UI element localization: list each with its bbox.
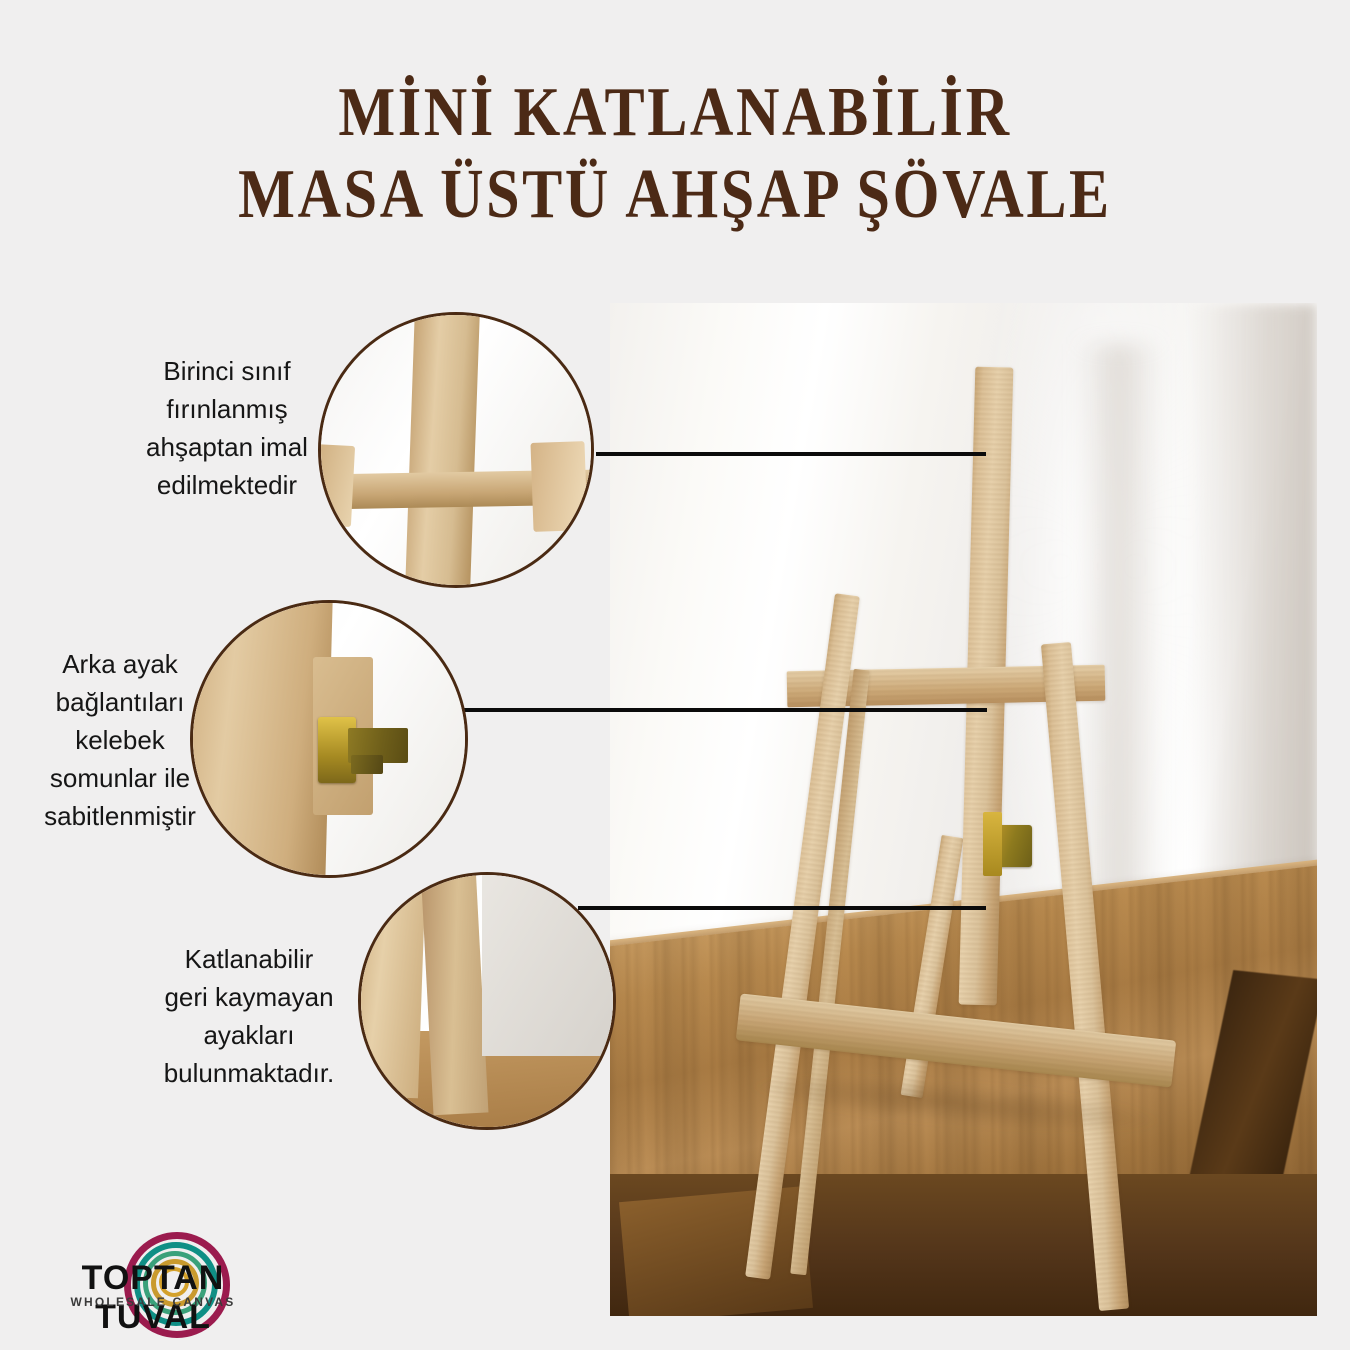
brand-logo[interactable]: TOPTAN TUVAL WHOLESALE CANVAS (28, 1232, 278, 1328)
callout3-left-leg (358, 872, 426, 1098)
callout2-wing-nut-tail (351, 755, 384, 774)
feature-text-folding-feet: Katlanabilir geri kaymayan ayakları bulu… (140, 940, 358, 1092)
page-title: MİNİ KATLANABİLİR MASA ÜSTÜ AHŞAP ŞÖVALE (0, 72, 1350, 236)
feature-text-wood-quality: Birinci sınıf fırınlanmış ahşaptan imal … (118, 352, 336, 504)
feature-1-line-4: edilmektedir (118, 466, 336, 504)
leader-line-feature-1 (596, 452, 986, 456)
brass-wing-nut-plate (983, 812, 1001, 877)
title-line-2: MASA ÜSTÜ AHŞAP ŞÖVALE (95, 154, 1256, 236)
feature-2-line-1: Arka ayak (20, 645, 220, 683)
feature-1-line-3: ahşaptan imal (118, 428, 336, 466)
feature-3-line-4: bulunmaktadır. (140, 1054, 358, 1092)
feature-1-line-2: fırınlanmış (118, 390, 336, 428)
feature-1-line-1: Birinci sınıf (118, 352, 336, 390)
feature-3-line-2: geri kaymayan (140, 978, 358, 1016)
feature-2-line-2: bağlantıları (20, 683, 220, 721)
feature-2-line-3: kelebek (20, 721, 220, 759)
feature-3-line-1: Katlanabilir (140, 940, 358, 978)
callout-circle-wing-nuts (190, 600, 468, 878)
feature-3-line-3: ayakları (140, 1016, 358, 1054)
callout-circle-folding-feet (358, 872, 616, 1130)
feature-text-wing-nuts: Arka ayak bağlantıları kelebek somunlar … (20, 645, 220, 835)
callout1-right-leg (530, 441, 587, 532)
callout1-vertical-mast (405, 312, 480, 588)
table-front-plank (619, 1187, 813, 1316)
callout-circle-wood-quality (318, 312, 594, 588)
leader-line-feature-2 (447, 708, 987, 712)
leader-line-feature-3 (578, 906, 986, 910)
title-line-1: MİNİ KATLANABİLİR (95, 72, 1256, 154)
logo-tagline: WHOLESALE CANVAS (28, 1295, 278, 1309)
infographic-page: MİNİ KATLANABİLİR MASA ÜSTÜ AHŞAP ŞÖVALE (0, 0, 1350, 1350)
callout3-background-wall (482, 875, 613, 1056)
feature-2-line-5: sabitlenmiştir (20, 797, 220, 835)
feature-2-line-4: somunlar ile (20, 759, 220, 797)
